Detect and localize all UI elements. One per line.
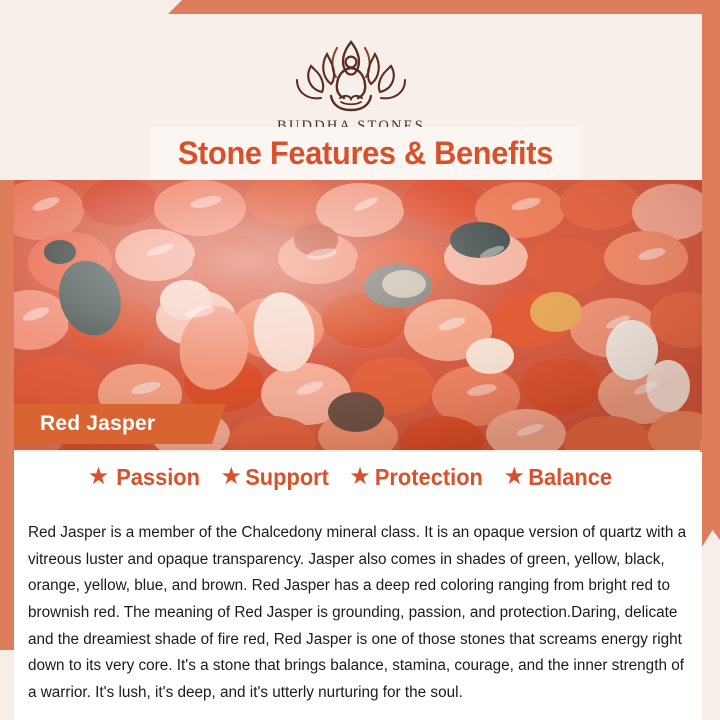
benefit-label: Passion [117,464,201,491]
left-orange-rail [0,180,14,650]
star-icon: ★ [503,465,525,489]
benefit-item-passion: ★ Passion [88,464,203,491]
infographic-page: BUDDHA STONES Stone Features & Benefits [0,0,720,720]
benefit-label: Protection [375,464,483,491]
star-icon: ★ [221,465,243,489]
benefit-label: Balance [528,464,612,491]
lotus-meditation-icon [281,36,421,114]
benefit-item-balance: ★ Balance [503,464,614,491]
star-icon: ★ [88,465,110,489]
stone-name-banner: Red Jasper [14,404,226,444]
benefits-row: ★ Passion ★ Support ★ Protection ★ Balan… [14,464,688,491]
stone-name: Red Jasper [40,412,155,436]
top-orange-band [0,0,720,14]
brand-logo: BUDDHA STONES [0,36,702,135]
benefit-label: Support [245,464,329,491]
page-title: Stone Features & Benefits [177,135,552,172]
stone-description-text: Red Jasper is a member of the Chalcedony… [28,520,690,706]
benefit-item-support: ★ Support [221,464,332,491]
benefit-item-protection: ★ Protection [349,464,485,491]
title-strip: Stone Features & Benefits [150,127,580,180]
star-icon: ★ [349,465,371,489]
top-right-orange-block [702,0,720,46]
